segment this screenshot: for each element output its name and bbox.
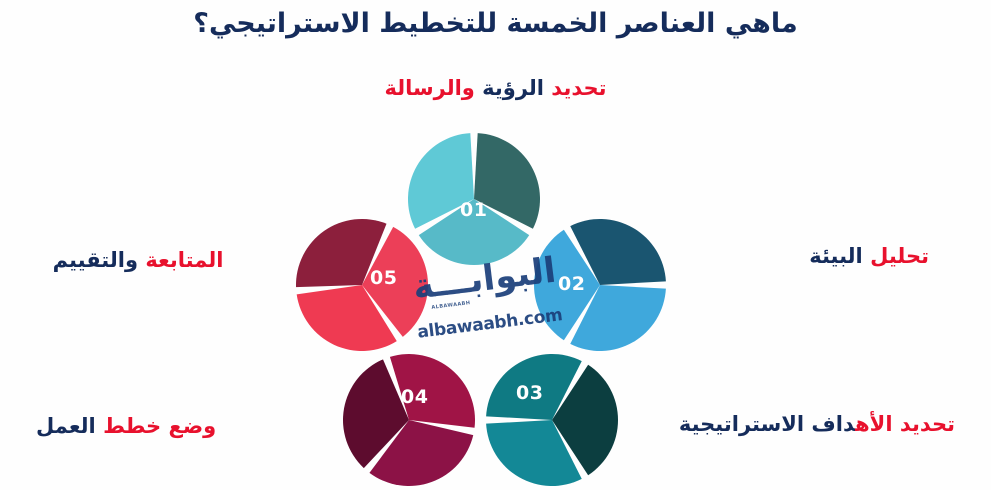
watermark-tiny-text: ALBAWAABH	[431, 300, 471, 311]
page-title: ماهي العناصر الخمسة للتخطيط الاستراتيجي؟	[0, 6, 991, 42]
step-label-2-navy: البيئة	[809, 244, 863, 268]
step-label-5: المتابعة والتقييم	[14, 246, 262, 274]
pie-chart-03[interactable]: 03	[480, 348, 624, 492]
pie-chart-04[interactable]: 04	[337, 348, 481, 492]
step-label-4-red-b: العمل	[36, 414, 103, 438]
step-label-1-red-a: تحديد	[544, 76, 606, 100]
step-label-4: وضع خطط العمل	[36, 412, 216, 440]
step-label-5-navy: والتقييم	[53, 248, 138, 272]
step-label-5-red-a: المتابعة	[138, 248, 223, 272]
step-label-1: تحديد الرؤية والرسالة	[0, 74, 991, 102]
step-label-1-navy: الرؤية	[482, 76, 544, 100]
step-label-4-red-a: وضع	[161, 414, 216, 438]
step-label-3: تحديد الأهداف الاستراتيجية	[679, 410, 955, 438]
step-label-4-navy: خطط	[103, 414, 161, 438]
step-label-3-navy: داف الاستراتيجية	[679, 412, 855, 436]
step-label-1-red-b: والرسالة	[385, 76, 483, 100]
pie-chart-02[interactable]: 02	[528, 213, 672, 357]
infographic-canvas: ماهي العناصر الخمسة للتخطيط الاستراتيجي؟…	[0, 0, 991, 490]
step-label-3-red-a: تحديد الأه	[855, 412, 955, 436]
step-label-2: تحليل البيئة	[809, 242, 929, 270]
step-label-2-red-a: تحليل	[863, 244, 929, 268]
pie-chart-05[interactable]: 05	[290, 213, 434, 357]
